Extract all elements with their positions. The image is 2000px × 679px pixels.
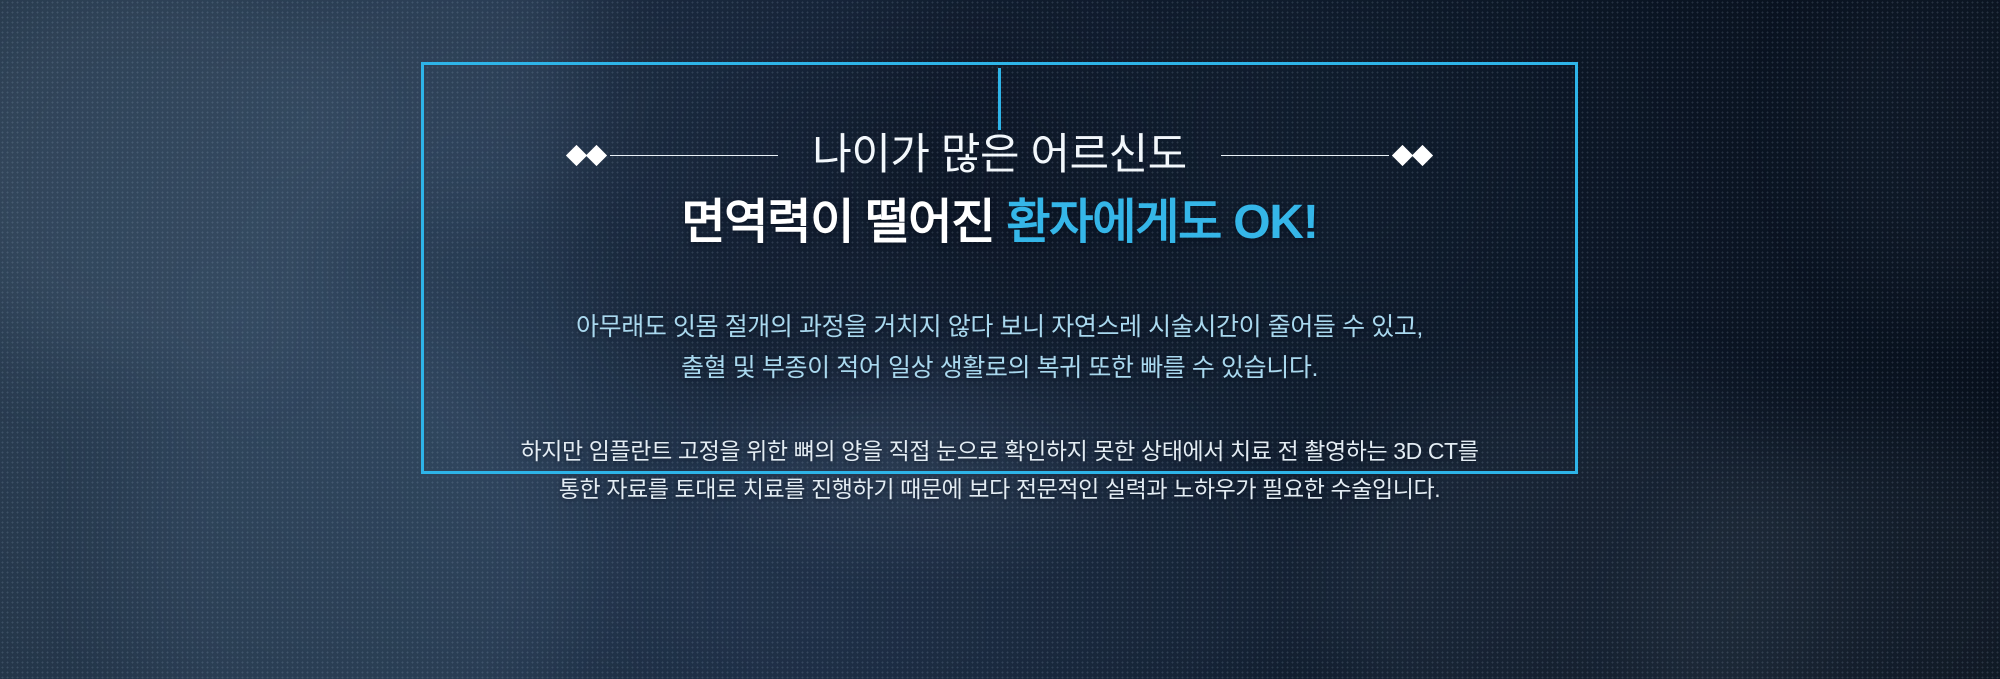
diamond-icon [1392,145,1413,166]
main-headline-accent: 환자에게도 OK! [1006,196,1317,249]
decoration-left [569,148,778,163]
rule-line [1221,155,1389,157]
diamond-icon [1412,145,1433,166]
benefit-paragraph: 아무래도 잇몸 절개의 과정을 거치지 않다 보니 자연스레 시술시간이 줄어들… [576,307,1423,390]
eyebrow-headline-row: 나이가 많은 어르신도 [421,132,1578,179]
diamond-icon [566,145,587,166]
banner-content: 나이가 많은 어르신도 면역력이 떨어진 환자에게도 OK! 아무래도 잇몸 절… [421,62,1578,474]
main-headline-white: 면역력이 떨어진 [681,196,994,249]
promo-banner: 나이가 많은 어르신도 면역력이 떨어진 환자에게도 OK! 아무래도 잇몸 절… [0,0,2000,679]
rule-line [610,155,778,157]
paragraph-line: 출혈 및 부종이 적어 일상 생활로의 복귀 또한 빠를 수 있습니다. [576,348,1423,390]
paragraph-line: 하지만 임플란트 고정을 위한 뼈의 양을 직접 눈으로 확인하지 못한 상태에… [521,432,1479,470]
diamond-icon [586,145,607,166]
decoration-right [1221,148,1430,163]
paragraph-line: 아무래도 잇몸 절개의 과정을 거치지 않다 보니 자연스레 시술시간이 줄어들… [576,307,1423,349]
paragraph-line: 통한 자료를 토대로 치료를 진행하기 때문에 보다 전문적인 실력과 노하우가… [521,470,1479,508]
caution-paragraph: 하지만 임플란트 고정을 위한 뼈의 양을 직접 눈으로 확인하지 못한 상태에… [521,432,1479,508]
main-headline: 면역력이 떨어진 환자에게도 OK! [681,195,1317,252]
eyebrow-headline: 나이가 많은 어르신도 [812,132,1186,179]
